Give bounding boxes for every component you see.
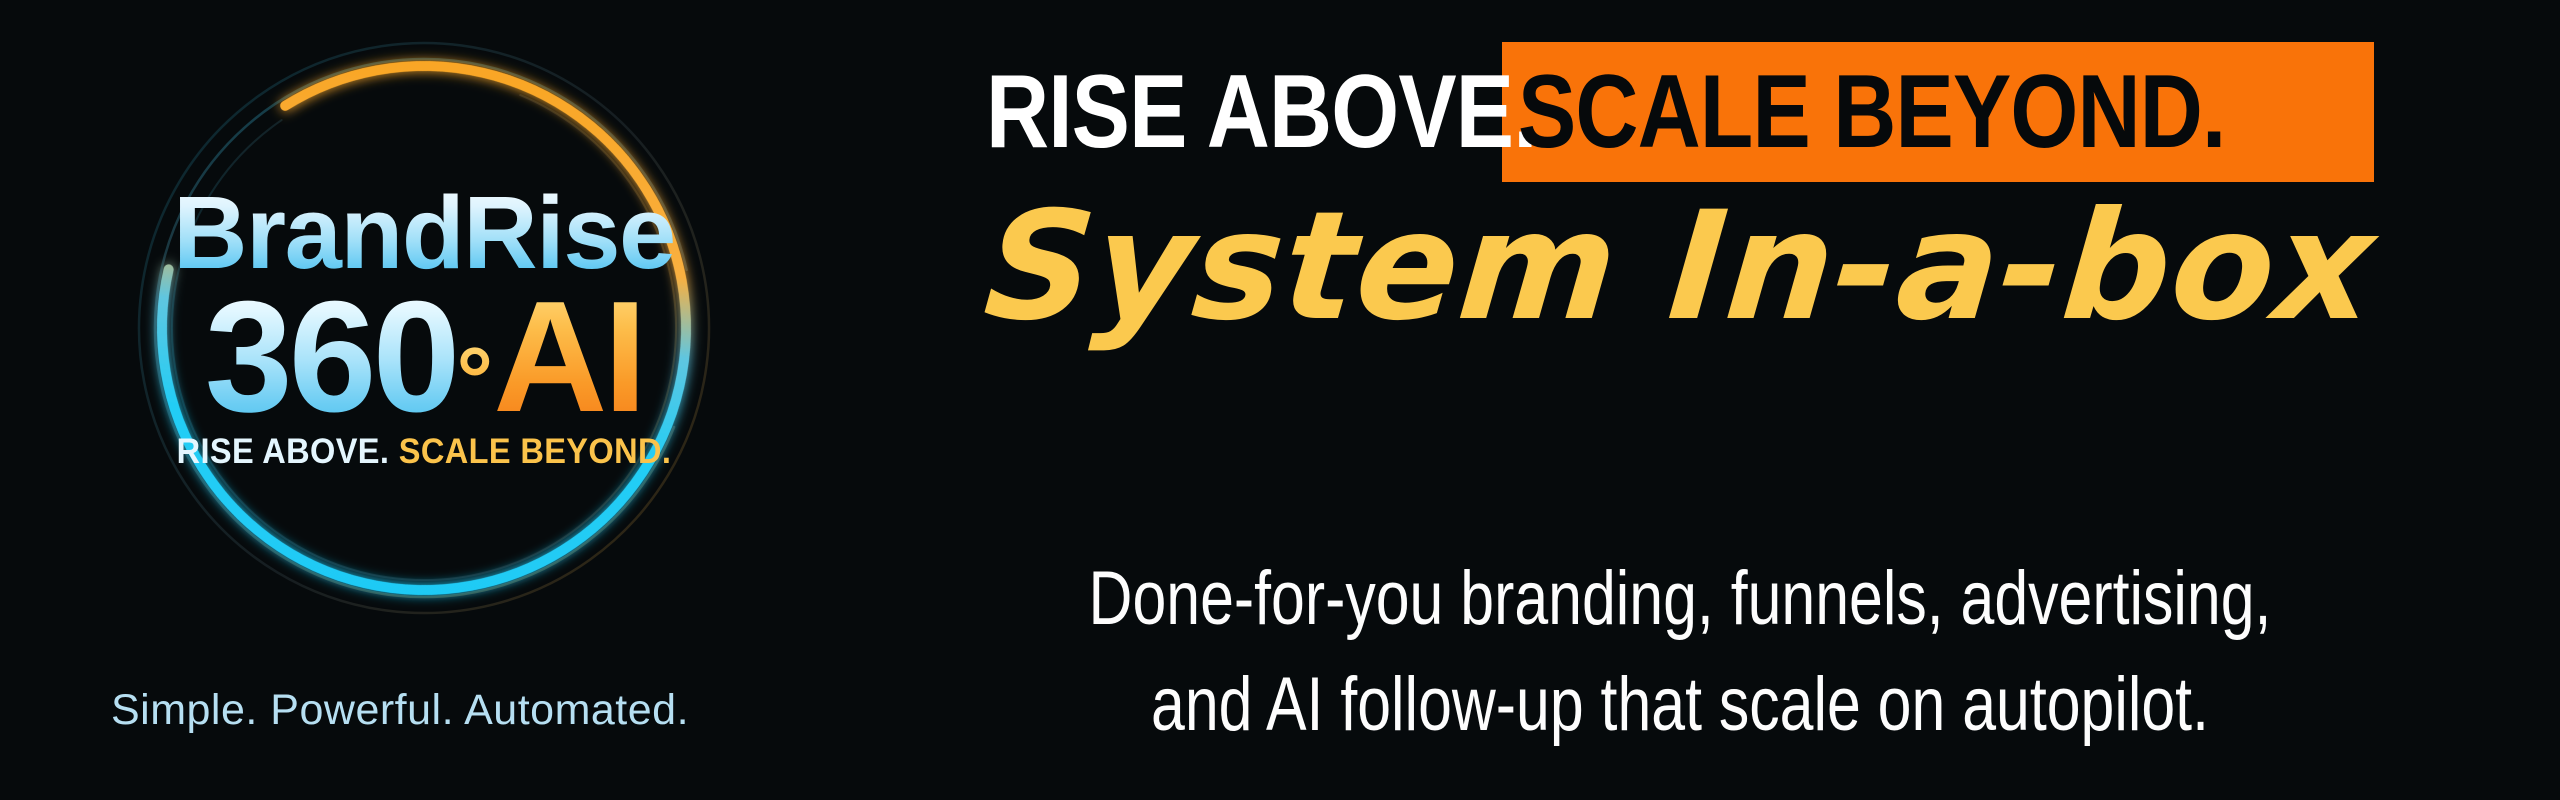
logo-number: 360 xyxy=(205,285,457,430)
body-copy: Done-for-you branding, funnels, advertis… xyxy=(800,546,2560,758)
logo-360ai-line: 360°AI xyxy=(205,285,643,430)
logo-micro-tagline-scale: SCALE BEYOND. xyxy=(399,432,672,471)
message-zone: RISE ABOVE. SCALE BEYOND. System In-a-bo… xyxy=(800,0,2560,800)
body-copy-line-2: and AI follow-up that scale on autopilot… xyxy=(976,652,2384,758)
body-copy-line-1: Done-for-you branding, funnels, advertis… xyxy=(976,546,2384,652)
logo-micro-tagline-rise: RISE ABOVE. xyxy=(177,432,390,471)
logo-badge: BrandRise 360°AI RISE ABOVE. SCALE BEYON… xyxy=(118,22,730,634)
headline-row: RISE ABOVE. SCALE BEYOND. xyxy=(800,42,2560,182)
logo-zone: BrandRise 360°AI RISE ABOVE. SCALE BEYON… xyxy=(0,0,800,800)
headline-primary: RISE ABOVE. xyxy=(986,42,1547,182)
logo-wordmark: BrandRise 360°AI RISE ABOVE. SCALE BEYON… xyxy=(118,22,730,634)
logo-ai-suffix: AI xyxy=(493,285,643,430)
script-headline: System In-a-box xyxy=(792,172,2560,362)
logo-brand-name: BrandRise xyxy=(173,184,675,283)
logo-subtagline: Simple. Powerful. Automated. xyxy=(0,686,800,735)
headline-highlight-block: SCALE BEYOND. xyxy=(1502,42,2374,182)
banner-root: BrandRise 360°AI RISE ABOVE. SCALE BEYON… xyxy=(0,0,2560,800)
headline-highlight: SCALE BEYOND. xyxy=(1518,42,2225,182)
logo-micro-tagline: RISE ABOVE. SCALE BEYOND. xyxy=(177,432,672,472)
logo-degree-symbol: ° xyxy=(456,338,493,423)
